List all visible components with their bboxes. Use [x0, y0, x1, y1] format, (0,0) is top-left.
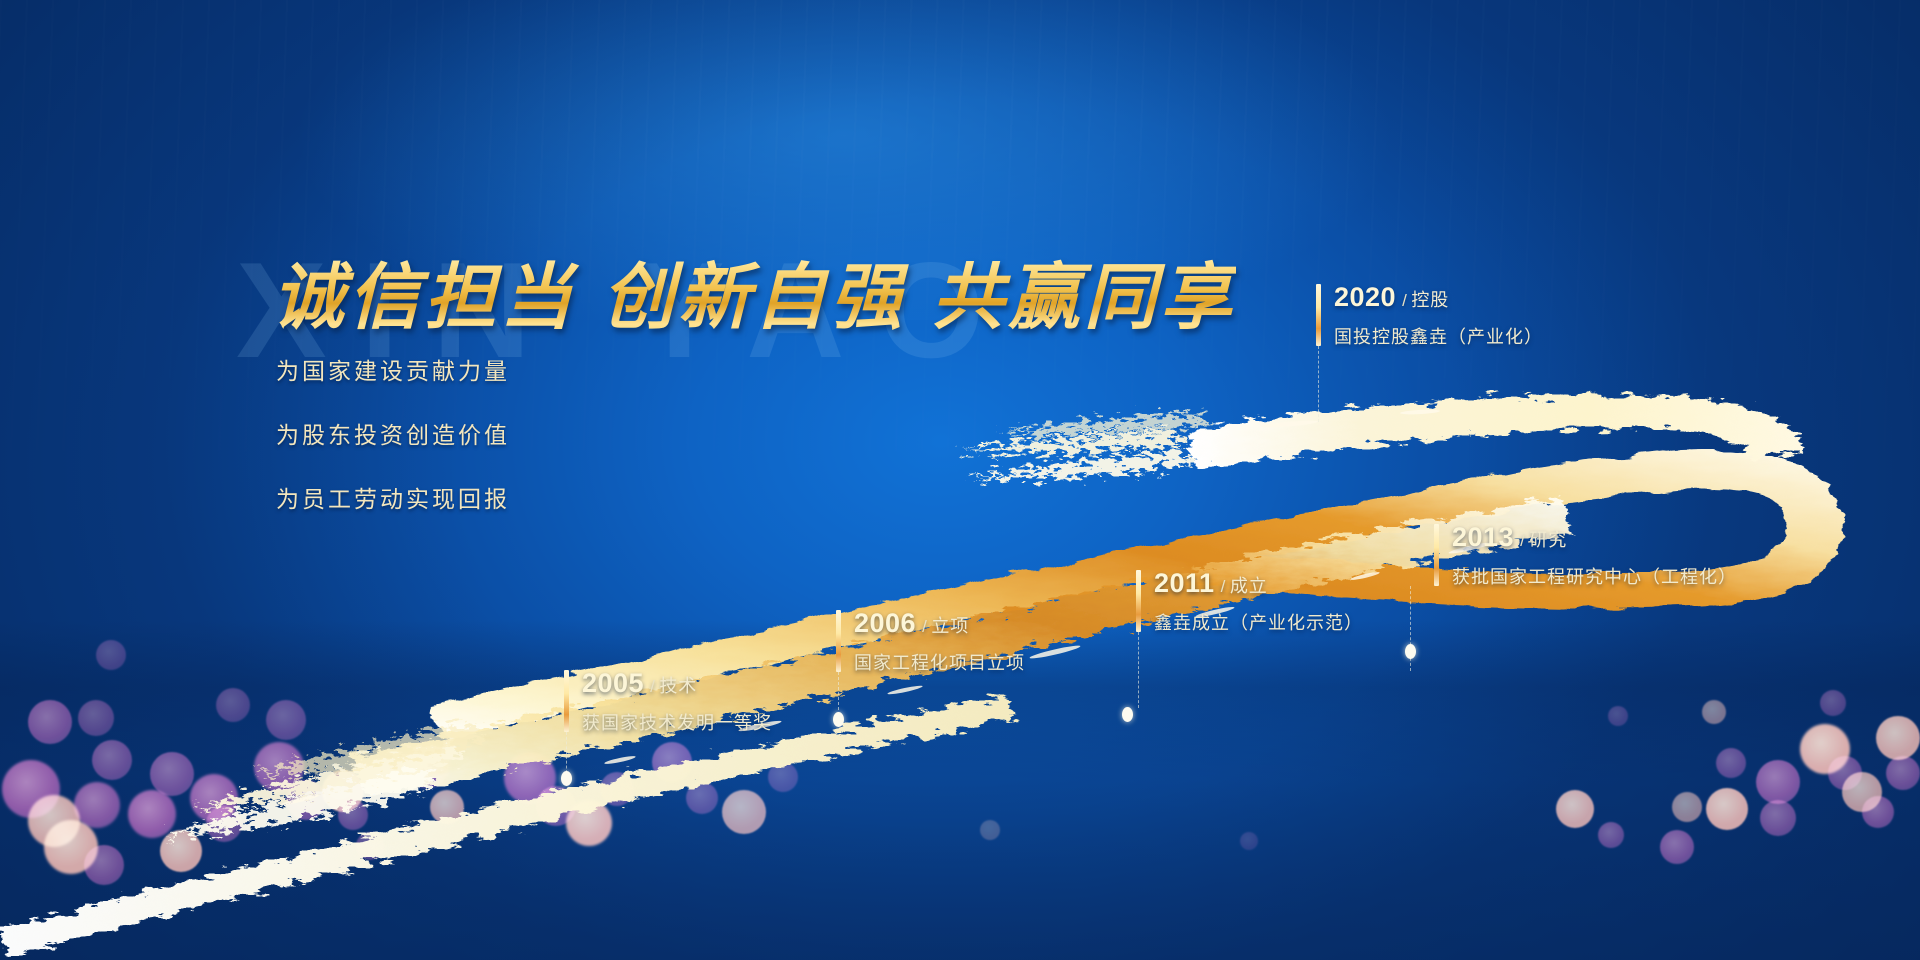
milestone-separator: /	[922, 617, 927, 636]
subtitle-line-2: 为股东投资创造价值	[276, 416, 510, 450]
milestone-description: 鑫垚成立（产业化示范）	[1154, 609, 1363, 635]
milestone-year-row: 2006/立项	[854, 608, 1025, 639]
milestone-accent-bar	[564, 670, 569, 732]
headline-part-3: 共赢同享	[932, 258, 1236, 338]
milestone-connector-2020	[1318, 346, 1319, 422]
milestone-year-row: 2011/成立	[1154, 568, 1363, 599]
milestone-separator: /	[1221, 577, 1226, 596]
milestone-accent-bar	[836, 610, 841, 672]
milestone-category: 控股	[1411, 290, 1449, 310]
milestone-dot-2011[interactable]	[1122, 707, 1133, 722]
milestone-2011[interactable]: 2011/成立 鑫垚成立（产业化示范）	[1136, 568, 1363, 635]
milestone-text-block: 2006/立项 国家工程化项目立项	[836, 608, 1025, 675]
milestone-text-block: 2020/控股 国投控股鑫垚（产业化）	[1316, 282, 1543, 349]
milestone-2013[interactable]: 2013/研究 获批国家工程研究中心（工程化）	[1434, 522, 1737, 589]
milestone-description: 获批国家工程研究中心（工程化）	[1452, 563, 1737, 589]
milestone-category: 立项	[931, 616, 969, 636]
milestone-accent-bar	[1136, 570, 1141, 632]
subtitle-line-1: 为国家建设贡献力量	[276, 352, 510, 386]
milestone-year-row: 2013/研究	[1452, 522, 1737, 553]
milestone-year: 2006	[854, 608, 916, 638]
milestone-separator: /	[1402, 291, 1407, 310]
milestone-year: 2005	[582, 668, 644, 698]
subtitle-line-3: 为员工劳动实现回报	[276, 480, 510, 514]
milestone-2006[interactable]: 2006/立项 国家工程化项目立项	[836, 608, 1025, 675]
milestone-year-row: 2020/控股	[1334, 282, 1543, 313]
page-title: 诚信担当创新自强共赢同享	[272, 238, 1236, 343]
milestone-text-block: 2011/成立 鑫垚成立（产业化示范）	[1136, 568, 1363, 635]
milestone-accent-bar	[1434, 524, 1439, 586]
milestone-description: 获国家技术发明一等奖	[582, 709, 772, 735]
milestone-dot-2013[interactable]	[1405, 644, 1416, 659]
milestone-dot-2006[interactable]	[833, 712, 844, 727]
milestone-year-row: 2005/技术	[582, 668, 772, 699]
milestone-text-block: 2013/研究 获批国家工程研究中心（工程化）	[1434, 522, 1737, 589]
milestone-separator: /	[650, 677, 655, 696]
milestone-category: 成立	[1230, 576, 1268, 596]
milestone-accent-bar	[1316, 284, 1321, 346]
headline-part-1: 诚信担当	[272, 258, 576, 338]
milestone-year: 2011	[1154, 568, 1215, 598]
milestone-description: 国家工程化项目立项	[854, 649, 1025, 675]
milestone-text-block: 2005/技术 获国家技术发明一等奖	[564, 668, 772, 735]
milestone-year: 2020	[1334, 282, 1396, 312]
milestone-description: 国投控股鑫垚（产业化）	[1334, 323, 1543, 349]
subtitle-list: 为国家建设贡献力量 为股东投资创造价值 为员工劳动实现回报	[276, 352, 510, 544]
milestone-connector-2011	[1138, 632, 1139, 708]
milestone-2005[interactable]: 2005/技术 获国家技术发明一等奖	[564, 668, 772, 735]
headline-part-2: 创新自强	[602, 258, 906, 338]
milestone-category: 技术	[659, 676, 697, 696]
milestone-2020[interactable]: 2020/控股 国投控股鑫垚（产业化）	[1316, 282, 1543, 349]
milestone-category: 研究	[1529, 530, 1567, 550]
milestone-year: 2013	[1452, 522, 1514, 552]
milestone-dot-2005[interactable]	[561, 771, 572, 786]
milestone-separator: /	[1520, 531, 1525, 550]
banner-stage: XIN YAO 诚信担当创新自强共赢同享 为国家建设贡献力量 为股东投资创造价值…	[0, 0, 1920, 960]
